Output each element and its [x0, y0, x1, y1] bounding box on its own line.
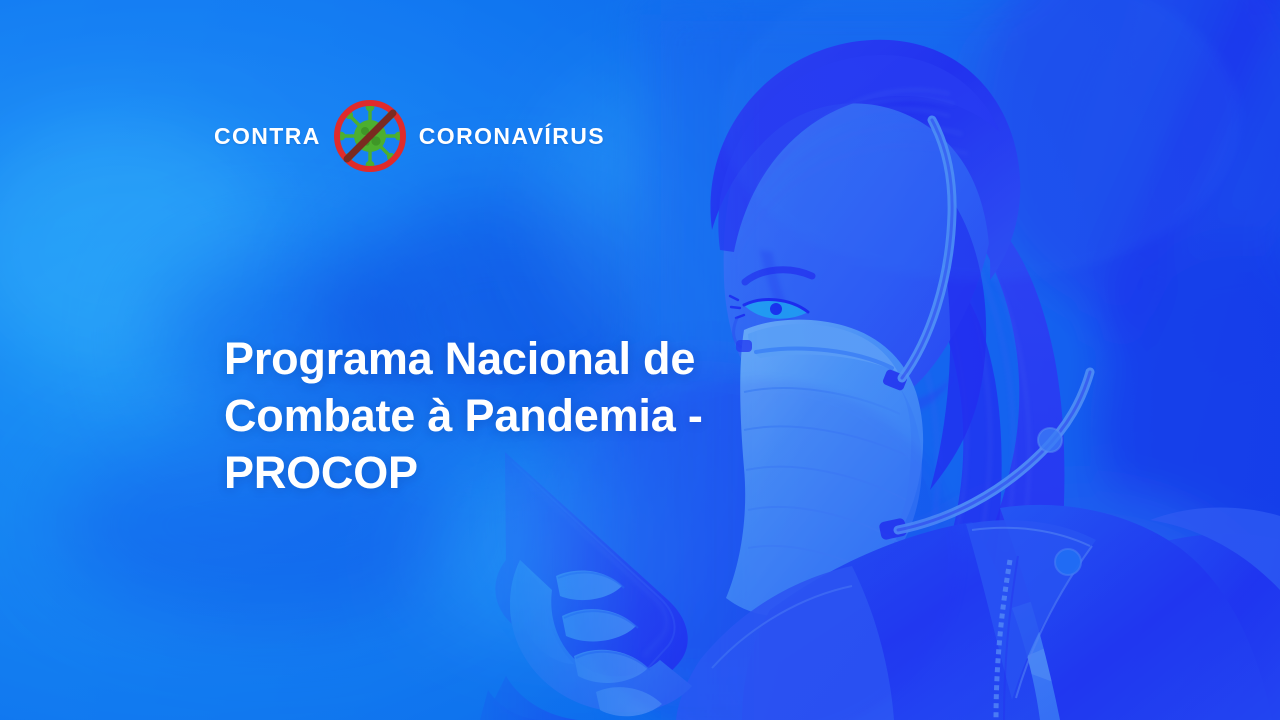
page-title-line-2: Combate à Pandemia - — [224, 387, 744, 444]
page-title-line-1: Programa Nacional de — [224, 330, 744, 387]
promo-slide: CONTRA — [0, 0, 1280, 720]
page-title-line-3: PROCOP — [224, 444, 744, 501]
page-title: Programa Nacional de Combate à Pandemia … — [224, 330, 744, 501]
logo-word-contra: CONTRA — [214, 125, 321, 148]
no-coronavirus-icon — [331, 90, 409, 182]
logo-word-coronavirus: CORONAVÍRUS — [419, 125, 605, 148]
contra-coronavirus-logo: CONTRA — [214, 90, 605, 182]
